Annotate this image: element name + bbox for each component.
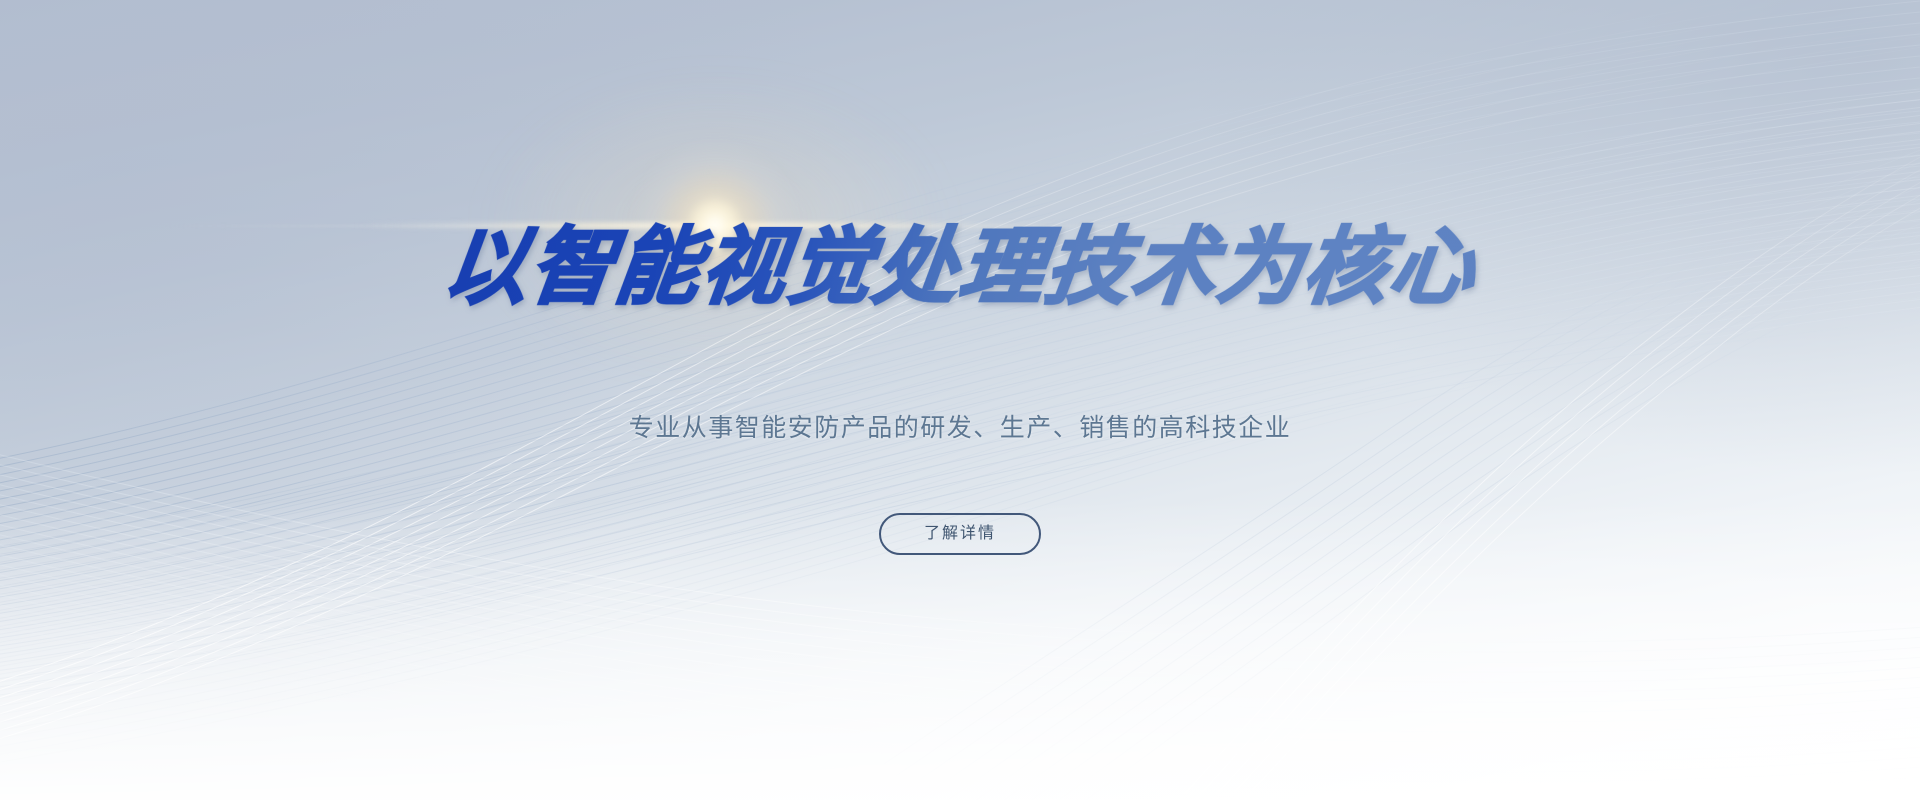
hero-banner: 以智能视觉处理技术为核心 专业从事智能安防产品的研发、生产、销售的高科技企业 了… xyxy=(0,0,1920,800)
hero-subtitle: 专业从事智能安防产品的研发、生产、销售的高科技企业 xyxy=(0,410,1920,446)
learn-more-button[interactable]: 了解详情 xyxy=(879,513,1041,555)
cta-container: 了解详情 xyxy=(0,513,1920,557)
hero-headline: 以智能视觉处理技术为核心 xyxy=(0,212,1920,322)
